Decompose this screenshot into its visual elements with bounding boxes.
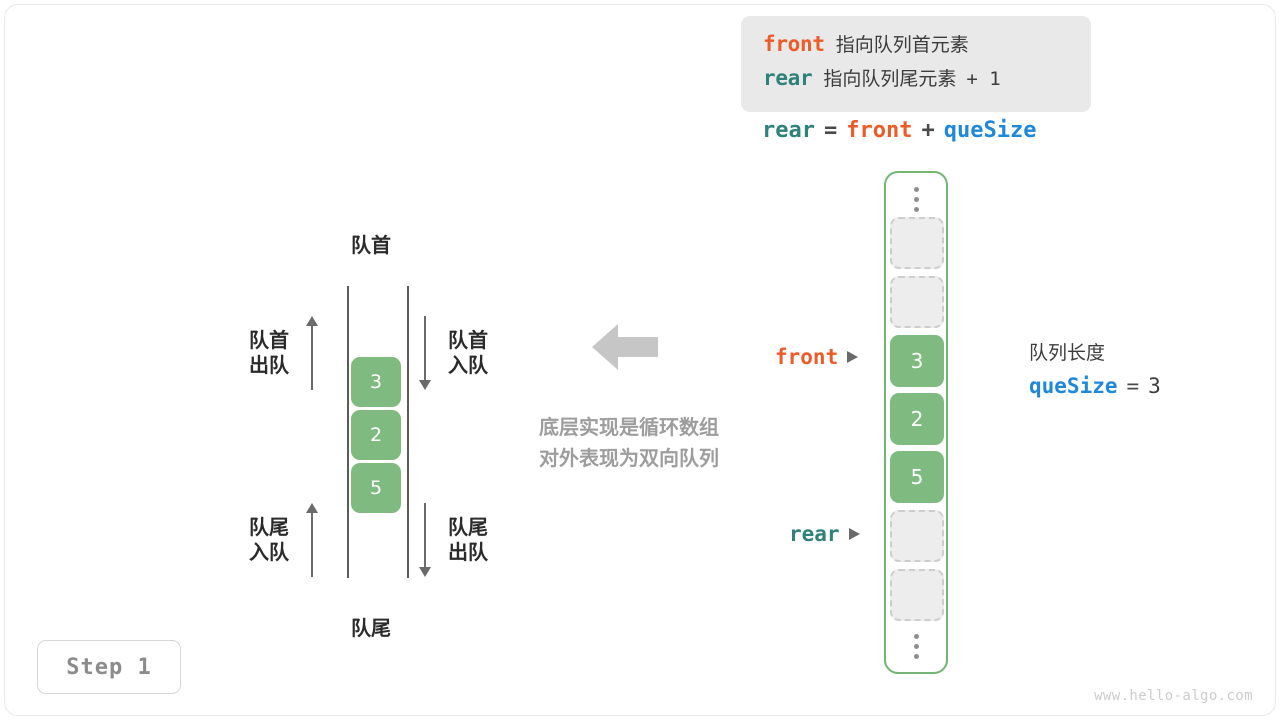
rear-pointer: rear bbox=[789, 522, 860, 546]
dot bbox=[914, 187, 919, 192]
dot bbox=[914, 654, 919, 659]
array-cell[interactable] bbox=[890, 510, 944, 562]
formula-equals: = bbox=[824, 118, 837, 143]
array-cell[interactable]: 2 bbox=[890, 393, 944, 445]
deque-cell[interactable]: 3 bbox=[351, 357, 401, 407]
dot bbox=[914, 197, 919, 202]
legend-text-front: 指向队列首元素 bbox=[836, 30, 969, 57]
legend-text-rear: 指向队列尾元素 bbox=[823, 64, 956, 91]
pointer-legend-box: front 指向队列首元素 rear 指向队列尾元素 + 1 bbox=[741, 16, 1091, 112]
array-cell[interactable] bbox=[890, 217, 944, 269]
array-cell[interactable] bbox=[890, 569, 944, 621]
op-head-enqueue-label: 队首 入队 bbox=[448, 328, 488, 378]
arrow-down-icon bbox=[418, 503, 432, 577]
op-head-dequeue: 队首 出队 bbox=[249, 316, 319, 390]
op-head-dequeue-label: 队首 出队 bbox=[249, 328, 289, 378]
queue-size-equals: = bbox=[1127, 374, 1140, 398]
dot bbox=[914, 634, 919, 639]
dot bbox=[914, 207, 919, 212]
op-tail-dequeue: 队尾 出队 bbox=[418, 503, 488, 577]
array-cell[interactable] bbox=[890, 276, 944, 328]
rear-pointer-label: rear bbox=[789, 522, 840, 546]
watermark: www.hello-algo.com bbox=[1094, 688, 1253, 704]
deque-head-title: 队首 bbox=[351, 229, 391, 258]
queue-size-label: 队列长度 bbox=[1029, 338, 1161, 365]
formula-quesize: queSize bbox=[944, 118, 1037, 143]
array-cell[interactable]: 5 bbox=[890, 451, 944, 503]
step-badge: Step 1 bbox=[37, 640, 181, 694]
queue-size-name: queSize bbox=[1029, 374, 1118, 398]
queue-size-expression: queSize = 3 bbox=[1029, 374, 1161, 398]
deque-left-rail bbox=[347, 286, 349, 578]
vertical-ellipsis-icon-top bbox=[886, 177, 946, 221]
vertical-ellipsis-icon-bottom bbox=[886, 624, 946, 668]
op-tail-enqueue-label: 队尾 入队 bbox=[249, 515, 289, 565]
formula-plus: + bbox=[921, 118, 934, 143]
arrow-right-icon bbox=[847, 351, 858, 363]
deque-tail-title: 队尾 bbox=[351, 612, 391, 641]
queue-size-value: 3 bbox=[1148, 374, 1161, 398]
deque-cell[interactable]: 2 bbox=[351, 410, 401, 460]
arrow-down-icon bbox=[418, 316, 432, 390]
op-tail-enqueue: 队尾 入队 bbox=[249, 503, 319, 577]
circular-array-container: 3 2 5 bbox=[884, 171, 948, 674]
legend-row-rear: rear 指向队列尾元素 + 1 bbox=[763, 64, 1091, 98]
deque-right-rail bbox=[407, 286, 409, 578]
dot bbox=[914, 644, 919, 649]
deque-cell[interactable]: 5 bbox=[351, 463, 401, 513]
arrow-left-icon bbox=[592, 322, 658, 372]
arrow-up-icon bbox=[305, 316, 319, 390]
op-head-enqueue: 队首 入队 bbox=[418, 316, 488, 390]
legend-key-front: front bbox=[763, 32, 825, 56]
implementation-note: 底层实现是循环数组 对外表现为双向队列 bbox=[504, 412, 754, 474]
legend-suffix-rear: + 1 bbox=[966, 68, 1000, 90]
legend-key-rear: rear bbox=[763, 66, 812, 90]
legend-row-front: front 指向队列首元素 bbox=[763, 30, 1091, 64]
arrow-up-icon bbox=[305, 503, 319, 577]
op-tail-dequeue-label: 队尾 出队 bbox=[448, 515, 488, 565]
front-pointer-label: front bbox=[775, 345, 838, 369]
queue-size-block: 队列长度 queSize = 3 bbox=[1029, 338, 1161, 398]
array-cell[interactable]: 3 bbox=[890, 335, 944, 387]
arrow-right-icon bbox=[849, 528, 860, 540]
rear-formula: rear = front + queSize bbox=[762, 118, 1045, 143]
formula-lhs: rear bbox=[762, 118, 815, 143]
implementation-note-line2: 对外表现为双向队列 bbox=[504, 443, 754, 474]
implementation-note-line1: 底层实现是循环数组 bbox=[504, 412, 754, 443]
front-pointer: front bbox=[775, 345, 858, 369]
diagram-canvas: front 指向队列首元素 rear 指向队列尾元素 + 1 rear = fr… bbox=[0, 0, 1280, 720]
formula-front: front bbox=[846, 118, 912, 143]
